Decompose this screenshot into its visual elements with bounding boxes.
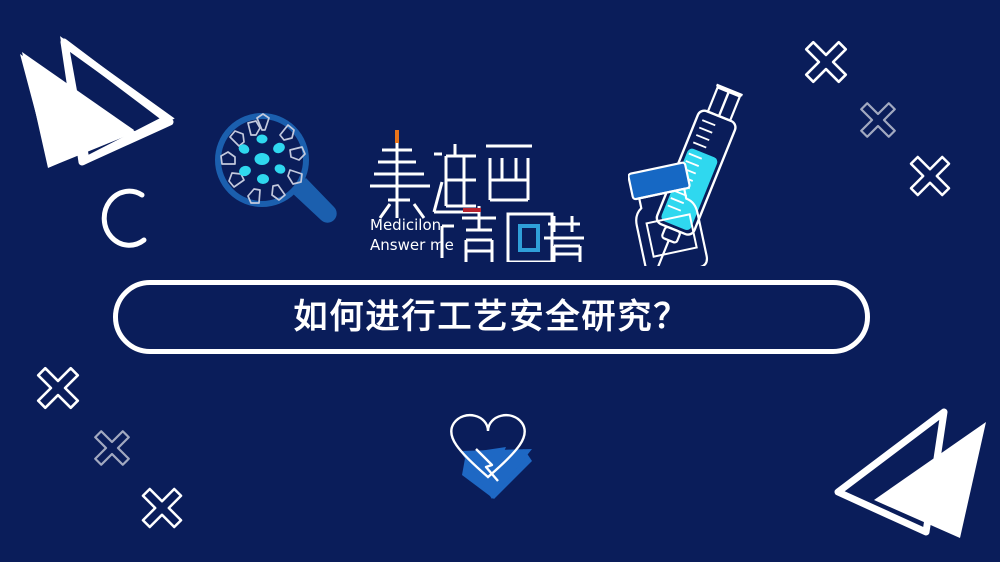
double-triangle-left-icon: [828, 392, 1000, 554]
heart-arrow-icon: [432, 403, 544, 505]
cross-mark-right-2-icon: [856, 98, 900, 142]
cross-mark-left-2-icon: [90, 426, 134, 470]
logo-red-accent: [463, 208, 481, 212]
brand-latin-name: Medicilon: [370, 216, 441, 234]
cross-mark-right-3-icon: [905, 151, 955, 201]
brand-latin-tagline: Answer me: [370, 236, 454, 254]
cross-mark-left-1-icon: [32, 362, 84, 414]
logo-cyan-accent: [520, 226, 538, 250]
syringe-vial-icon: [628, 78, 756, 266]
question-title-banner: 如何进行工艺安全研究？: [113, 280, 870, 354]
logo-orange-accent: [395, 130, 399, 143]
magnifier-virus-icon: [205, 108, 345, 230]
page-title: 如何进行工艺安全研究？: [294, 300, 690, 334]
cross-mark-left-3-icon: [137, 483, 187, 533]
brand-logo: Medicilon Answer me: [368, 122, 586, 262]
poster-canvas: Medicilon Answer me 如何进行工艺安全研究？: [0, 0, 1000, 562]
cross-mark-right-1-icon: [800, 36, 852, 88]
double-triangle-right-icon: [8, 22, 178, 182]
arc-c-icon: [92, 182, 154, 252]
